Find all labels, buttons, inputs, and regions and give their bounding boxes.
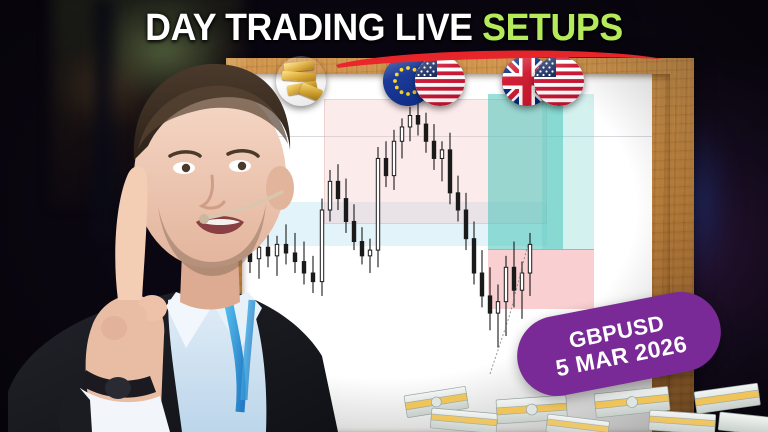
us-flag-icon-2 xyxy=(534,56,584,106)
page-title: DAY TRADING LIVE SETUPS xyxy=(23,6,745,50)
us-flag-icon xyxy=(415,56,465,106)
gbpusd-flag-pair-icon xyxy=(502,56,584,106)
presenter-photo xyxy=(0,0,420,432)
title-part-2: SETUPS xyxy=(482,7,623,49)
title-part-1: DAY TRADING LIVE xyxy=(145,7,482,49)
thumbnail-stage: DAY TRADING LIVE SETUPS xyxy=(0,0,768,432)
